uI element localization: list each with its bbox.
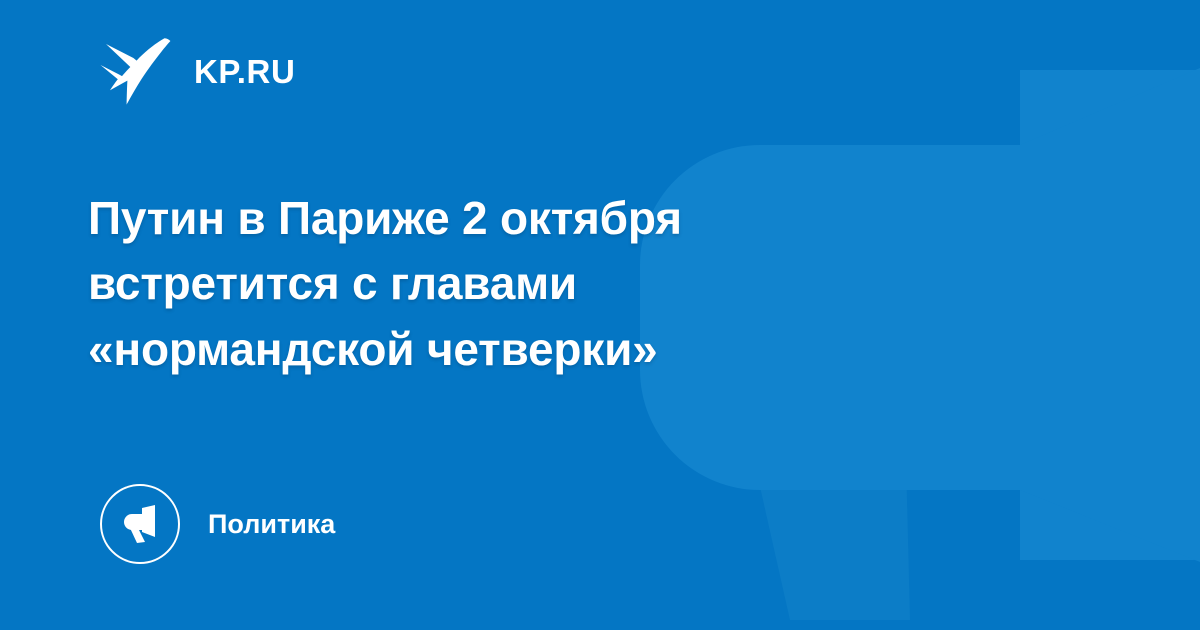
brand-name: KP.RU <box>194 55 295 88</box>
page-title: Путин в Париже 2 октября встретится с гл… <box>88 186 888 382</box>
swallow-bird-logo-icon <box>100 37 172 105</box>
category-icon-circle <box>100 484 180 564</box>
category-label: Политика <box>208 511 335 538</box>
megaphone-icon <box>120 504 160 544</box>
brand-header: KP.RU <box>100 36 295 106</box>
share-card: KP.RU Путин в Париже 2 октября встретитс… <box>0 0 1200 630</box>
category-badge-row[interactable]: Политика <box>100 484 335 564</box>
